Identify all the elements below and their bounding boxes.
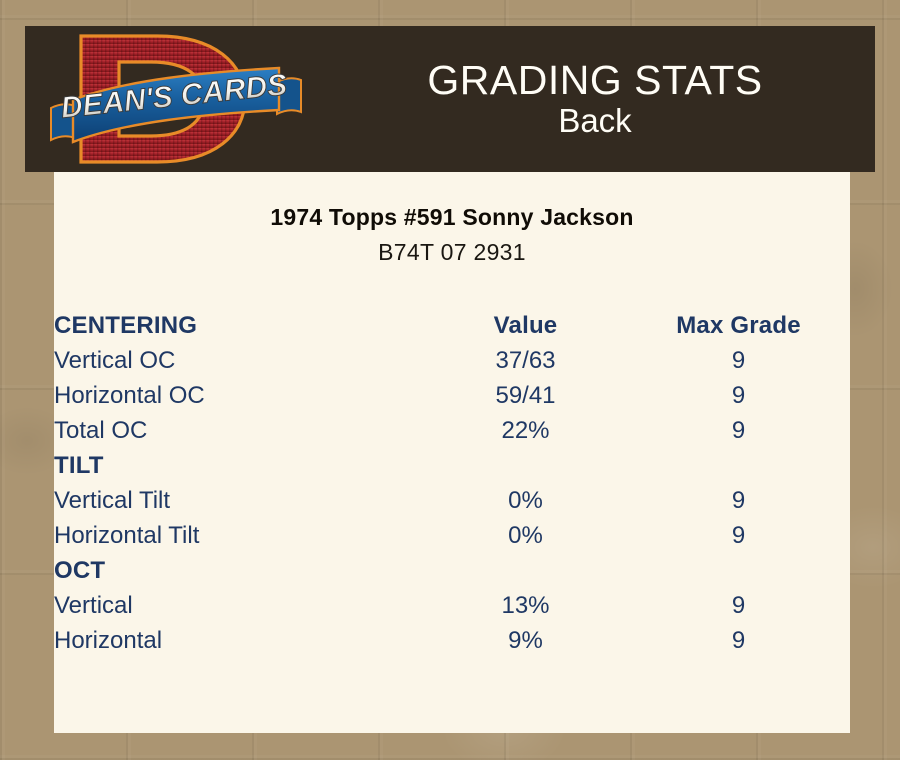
table-row: Vertical OC 37/63 9 bbox=[54, 343, 850, 378]
content-panel: 1974 Topps #591 Sonny Jackson B74T 07 29… bbox=[54, 172, 850, 733]
page-title: GRADING STATS bbox=[427, 59, 762, 102]
stat-max-grade: 9 bbox=[627, 623, 850, 658]
stat-value: 59/41 bbox=[424, 378, 627, 413]
stat-value: 37/63 bbox=[424, 343, 627, 378]
stat-label: Vertical OC bbox=[54, 343, 424, 378]
stat-max-grade: 9 bbox=[627, 413, 850, 448]
stat-value: 9% bbox=[424, 623, 627, 658]
stat-value: 13% bbox=[424, 588, 627, 623]
table-section-header-oct: OCT bbox=[54, 553, 850, 588]
logo-artwork: DEAN'S CARDS bbox=[45, 24, 305, 174]
table-row: Horizontal 9% 9 bbox=[54, 623, 850, 658]
table-section-header-tilt: TILT bbox=[54, 448, 850, 483]
table-row: Horizontal OC 59/41 9 bbox=[54, 378, 850, 413]
stat-value: 22% bbox=[424, 413, 627, 448]
table-header: CENTERING Value Max Grade bbox=[54, 308, 850, 343]
table-body: Vertical OC 37/63 9 Horizontal OC 59/41 … bbox=[54, 343, 850, 658]
stat-label: Horizontal bbox=[54, 623, 424, 658]
stat-max-grade: 9 bbox=[627, 343, 850, 378]
deans-cards-logo[interactable]: DEAN'S CARDS bbox=[45, 24, 305, 174]
stat-max-grade: 9 bbox=[627, 483, 850, 518]
stat-label: Horizontal OC bbox=[54, 378, 424, 413]
table-row: Vertical 13% 9 bbox=[54, 588, 850, 623]
stat-label: Vertical bbox=[54, 588, 424, 623]
card-title: 1974 Topps #591 Sonny Jackson bbox=[54, 204, 850, 231]
stat-label: Vertical Tilt bbox=[54, 483, 424, 518]
stat-max-grade: 9 bbox=[627, 588, 850, 623]
table-row: Horizontal Tilt 0% 9 bbox=[54, 518, 850, 553]
stat-max-grade: 9 bbox=[627, 378, 850, 413]
section-label: TILT bbox=[54, 448, 424, 483]
stat-value: 0% bbox=[424, 483, 627, 518]
section-spacer bbox=[627, 553, 850, 588]
table-row: Total OC 22% 9 bbox=[54, 413, 850, 448]
page-subtitle: Back bbox=[558, 104, 631, 139]
section-spacer bbox=[627, 448, 850, 483]
header-title-block: GRADING STATS Back bbox=[325, 26, 865, 172]
header-bar: DEAN'S CARDS GRADING STATS Back bbox=[25, 26, 875, 172]
table-header-row: CENTERING Value Max Grade bbox=[54, 308, 850, 343]
stat-max-grade: 9 bbox=[627, 518, 850, 553]
stat-label: Horizontal Tilt bbox=[54, 518, 424, 553]
section-spacer bbox=[424, 553, 627, 588]
column-header-centering: CENTERING bbox=[54, 308, 424, 343]
column-header-max-grade: Max Grade bbox=[627, 308, 850, 343]
column-header-value: Value bbox=[424, 308, 627, 343]
section-label: OCT bbox=[54, 553, 424, 588]
section-spacer bbox=[424, 448, 627, 483]
stat-value: 0% bbox=[424, 518, 627, 553]
grading-stats-table: CENTERING Value Max Grade Vertical OC 37… bbox=[54, 308, 850, 658]
table-row: Vertical Tilt 0% 9 bbox=[54, 483, 850, 518]
stat-label: Total OC bbox=[54, 413, 424, 448]
card-serial-number: B74T 07 2931 bbox=[54, 239, 850, 266]
